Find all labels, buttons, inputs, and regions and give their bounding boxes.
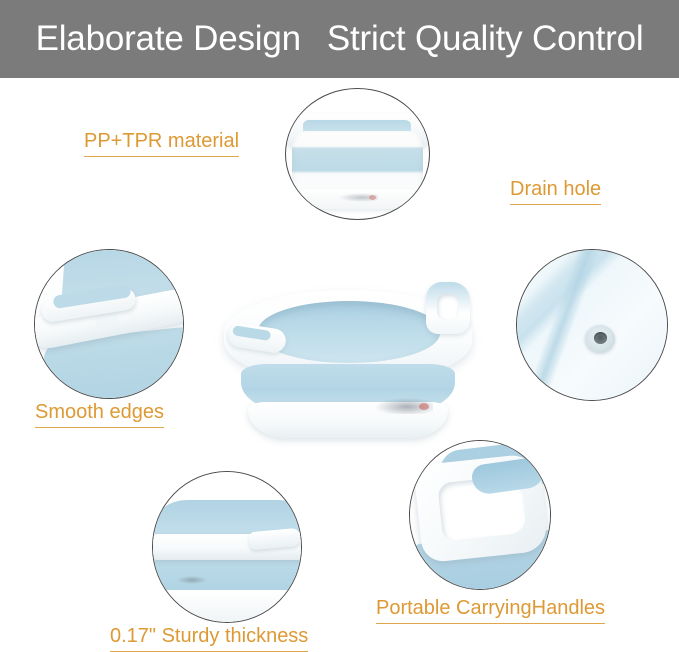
brand-logo-mark	[375, 398, 433, 414]
collapsible-tub-front-photo-icon	[286, 89, 429, 219]
callout-photo-thickness	[152, 471, 302, 623]
header-title-left: Elaborate Design	[36, 19, 301, 58]
callout-label-material: PP+TPR material	[84, 130, 239, 157]
callout-photo-drain	[516, 249, 668, 401]
brand-logo-mark	[338, 193, 378, 202]
tub-base-shape	[152, 590, 302, 623]
drain-hole-photo-icon	[517, 250, 667, 400]
callout-label-drain: Drain hole	[510, 178, 601, 205]
tub-wall-thickness-photo-icon	[153, 472, 301, 622]
callout-photo-material	[285, 88, 430, 220]
callout-photo-edges	[34, 249, 184, 399]
header-banner: Elaborate DesignStrict Quality Control	[0, 0, 679, 78]
carrying-handle-photo-icon	[410, 441, 550, 589]
tub-basin-shape	[258, 301, 440, 363]
header-title: Elaborate DesignStrict Quality Control	[36, 19, 644, 59]
callout-label-edges: Smooth edges	[35, 401, 164, 428]
infographic-page: Elaborate DesignStrict Quality Control	[0, 0, 679, 652]
collapsible-laundry-tub-photo	[224, 268, 472, 454]
tub-handle-right-shape	[426, 282, 470, 334]
callout-photo-handles	[409, 440, 551, 590]
smooth-edge-photo-icon	[35, 250, 183, 398]
header-title-right: Strict Quality Control	[327, 19, 644, 58]
brand-logo-mark	[177, 576, 207, 584]
callout-label-thickness: 0.17" Sturdy thickness	[110, 625, 308, 652]
drain-hole-shape	[594, 332, 607, 344]
callout-label-handles: Portable CarryingHandles	[376, 597, 605, 624]
